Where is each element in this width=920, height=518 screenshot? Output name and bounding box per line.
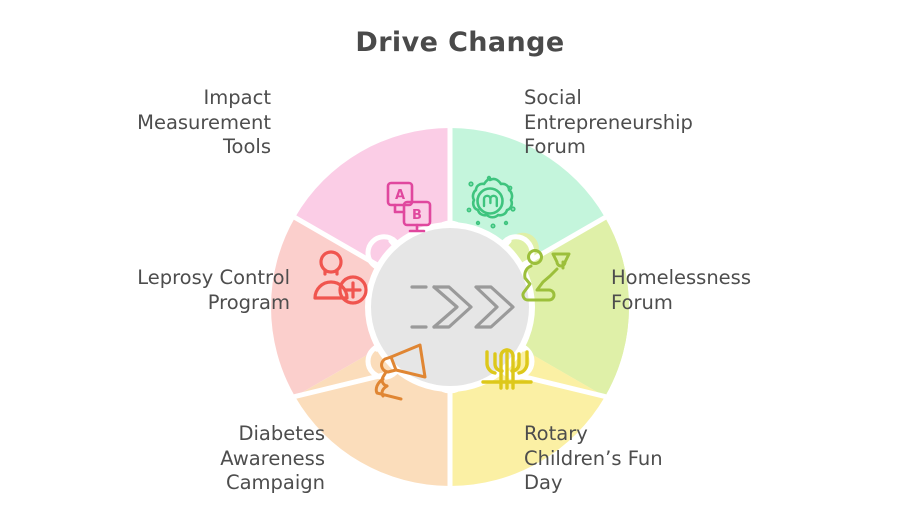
svg-text:A: A: [395, 188, 405, 203]
label-rotary-childrens-fun-day: Rotary Children’s Fun Day: [524, 422, 774, 496]
page-title: Drive Change: [0, 27, 920, 58]
label-diabetes-awareness-campaign: Diabetes Awareness Campaign: [75, 422, 325, 496]
infographic-canvas: Drive Change: [0, 0, 920, 518]
label-leprosy-control-program: Leprosy Control Program: [40, 266, 290, 315]
label-homelessness-forum: Homelessness Forum: [611, 266, 861, 315]
label-impact-measurement-tools: Impact Measurement Tools: [41, 86, 271, 160]
label-social-entrepreneurship-forum: Social Entrepreneurship Forum: [524, 86, 774, 160]
svg-text:B: B: [412, 208, 422, 223]
